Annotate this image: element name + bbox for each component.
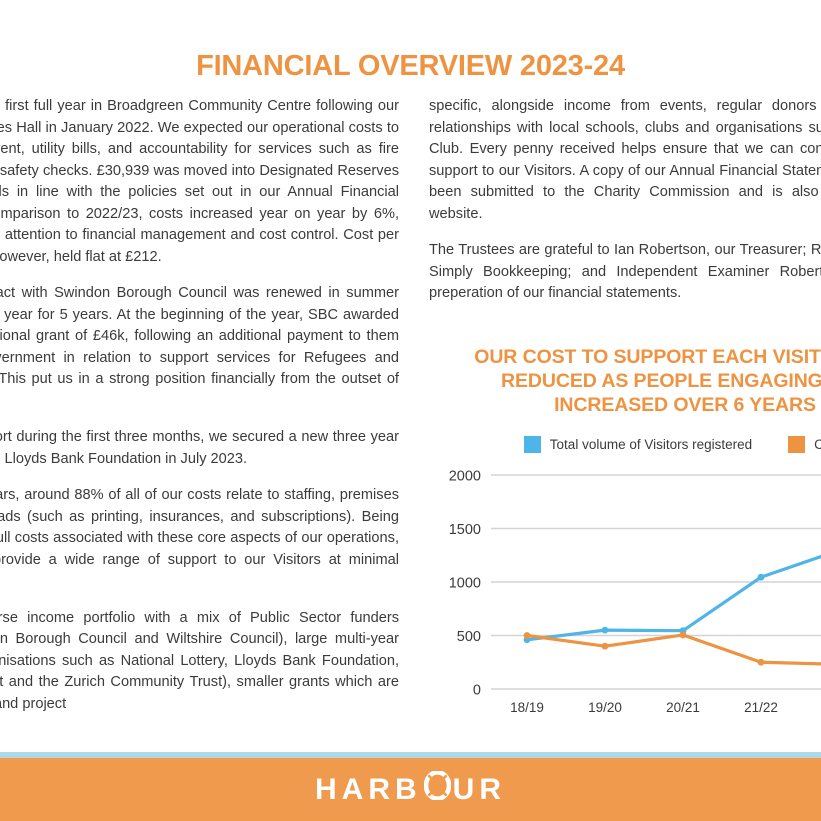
chart-block: OUR COST TO SUPPORT EACH VISITOR HAS RED… xyxy=(429,345,821,733)
harbour-logo: HARB UR xyxy=(315,771,506,808)
brand-text-before: HARB xyxy=(315,773,422,807)
chart-legend: Total volume of Visitors registered Cost… xyxy=(429,435,821,453)
chart-title-line: OUR COST TO SUPPORT EACH VISITOR HAS xyxy=(429,345,821,369)
legend-label: Total volume of Visitors registered xyxy=(550,436,752,453)
paragraph: This year was our first full year in Bro… xyxy=(0,96,399,268)
x-axis-tick-label: 19/20 xyxy=(588,700,622,715)
x-axis-tick-label: 20/21 xyxy=(666,700,700,715)
y-axis-tick-label: 2000 xyxy=(449,469,481,485)
paragraph: We have a diverse income portfolio with … xyxy=(0,608,399,716)
y-axis-tick-label: 0 xyxy=(473,683,481,699)
chart-series-line xyxy=(527,635,821,666)
paragraph: The Trustees are grateful to Ian Roberts… xyxy=(429,240,821,305)
y-axis-tick-label: 500 xyxy=(457,629,481,645)
chart-data-point[interactable] xyxy=(758,659,765,666)
brand-text-after: UR xyxy=(453,773,506,807)
footer-band: HARB UR xyxy=(0,758,821,821)
chart-plot-area: 050010001500200018/1919/2020/2121/2222/2… xyxy=(429,461,821,733)
body-column-left: This year was our first full year in Bro… xyxy=(0,96,399,730)
legend-label: Cost per Visitor xyxy=(814,436,821,453)
financial-overview-page: FINANCIAL OVERVIEW 2023-24 This year was… xyxy=(0,0,821,821)
legend-item-cost[interactable]: Cost per Visitor xyxy=(788,436,821,453)
chart-data-point[interactable] xyxy=(524,632,531,639)
chart-data-point[interactable] xyxy=(602,627,609,634)
y-axis-tick-label: 1000 xyxy=(449,576,481,592)
chart-title: OUR COST TO SUPPORT EACH VISITOR HAS RED… xyxy=(429,345,821,417)
page-title: FINANCIAL OVERVIEW 2023-24 xyxy=(0,50,821,83)
paragraph: specific, alongside income from events, … xyxy=(429,96,821,225)
legend-item-visitors[interactable]: Total volume of Visitors registered xyxy=(524,436,752,453)
legend-swatch-icon xyxy=(524,436,541,453)
chart-title-line: INCREASED OVER 6 YEARS xyxy=(429,393,821,417)
chart-data-point[interactable] xyxy=(758,574,765,581)
chart-data-point[interactable] xyxy=(680,632,687,639)
x-axis-tick-label: 21/22 xyxy=(744,700,778,715)
chart-title-line: REDUCED AS PEOPLE ENGAGING HAS xyxy=(429,369,821,393)
x-axis-tick-label: 18/19 xyxy=(510,700,544,715)
paragraph: Our annual contract with Swindon Borough… xyxy=(0,283,399,412)
paragraph: As in previous years, around 88% of all … xyxy=(0,485,399,593)
legend-swatch-icon xyxy=(788,436,805,453)
lifebuoy-icon xyxy=(424,771,451,808)
y-axis-tick-label: 1500 xyxy=(449,522,481,538)
chart-series-line xyxy=(527,540,821,640)
body-column-right: specific, alongside income from events, … xyxy=(429,96,821,320)
paragraph: With focussed effort during the first th… xyxy=(0,427,399,470)
line-chart-svg: 050010001500200018/1919/2020/2121/2222/2… xyxy=(429,461,821,733)
chart-data-point[interactable] xyxy=(602,643,609,650)
